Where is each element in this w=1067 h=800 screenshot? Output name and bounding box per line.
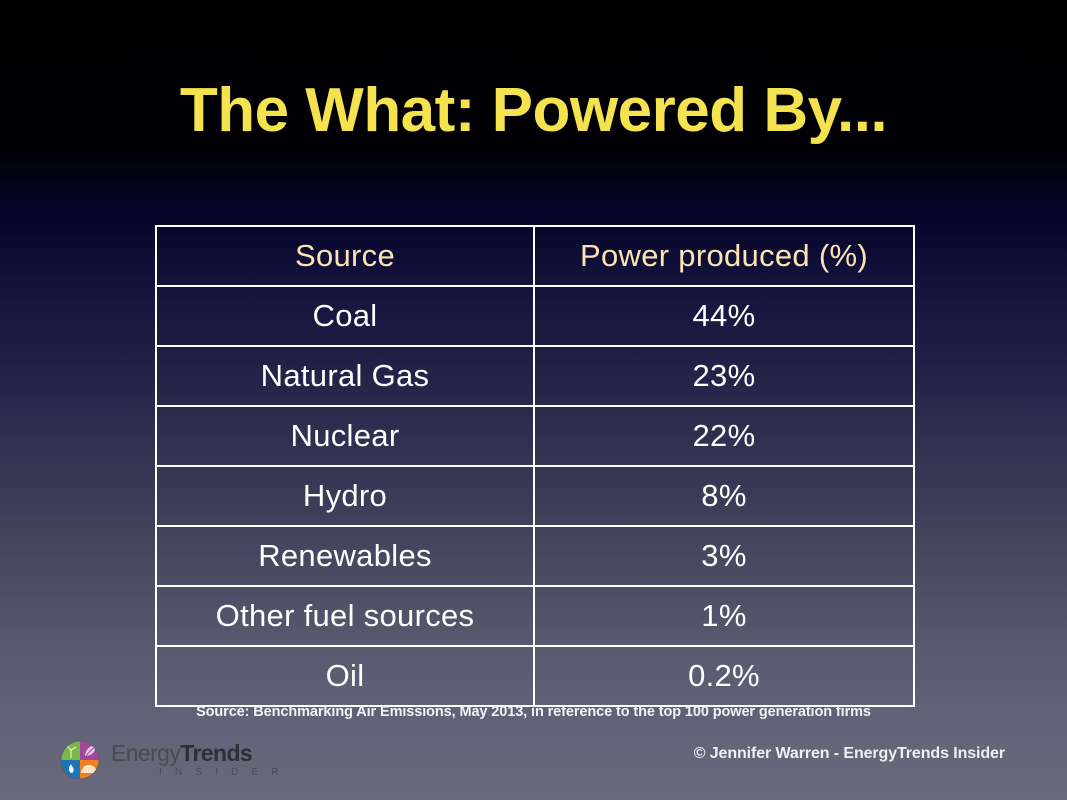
cell-power-renewables: 3%	[534, 526, 914, 586]
table-row: Renewables 3%	[156, 526, 914, 586]
column-header-source: Source	[156, 226, 534, 286]
table-header: Source Power produced (%)	[156, 226, 914, 286]
brand-logo-text: EnergyTrends I N S I D E R	[111, 742, 284, 778]
cell-power-oil: 0.2%	[534, 646, 914, 706]
table-row: Natural Gas 23%	[156, 346, 914, 406]
copyright-notice: © Jennifer Warren - EnergyTrends Insider	[694, 745, 1005, 763]
brand-logo-energy: Energy	[111, 740, 180, 766]
table-header-row: Source Power produced (%)	[156, 226, 914, 286]
table-row: Nuclear 22%	[156, 406, 914, 466]
source-note: Source: Benchmarking Air Emissions, May …	[0, 704, 1067, 720]
table-row: Hydro 8%	[156, 466, 914, 526]
brand-logo: EnergyTrends I N S I D E R	[58, 738, 284, 782]
cell-source-natural-gas: Natural Gas	[156, 346, 534, 406]
cell-power-nuclear: 22%	[534, 406, 914, 466]
table-row: Oil 0.2%	[156, 646, 914, 706]
energy-trends-circle-logo-icon	[58, 738, 102, 782]
cell-power-hydro: 8%	[534, 466, 914, 526]
cell-power-coal: 44%	[534, 286, 914, 346]
cell-source-renewables: Renewables	[156, 526, 534, 586]
cell-source-nuclear: Nuclear	[156, 406, 534, 466]
brand-logo-wordmark: EnergyTrends	[111, 742, 284, 765]
brand-logo-insider: I N S I D E R	[159, 768, 284, 778]
cell-power-natural-gas: 23%	[534, 346, 914, 406]
power-mix-table-container: Source Power produced (%) Coal 44% Natur…	[155, 225, 913, 690]
brand-logo-trends: Trends	[180, 740, 252, 766]
slide-canvas: The What: Powered By... Source Power pro…	[0, 0, 1067, 800]
power-mix-table: Source Power produced (%) Coal 44% Natur…	[155, 225, 915, 707]
table-body: Coal 44% Natural Gas 23% Nuclear 22% Hyd…	[156, 286, 914, 706]
cell-source-other-fuel-sources: Other fuel sources	[156, 586, 534, 646]
cell-source-oil: Oil	[156, 646, 534, 706]
page-title: The What: Powered By...	[0, 78, 1067, 143]
table-row: Other fuel sources 1%	[156, 586, 914, 646]
cell-source-coal: Coal	[156, 286, 534, 346]
cell-source-hydro: Hydro	[156, 466, 534, 526]
column-header-power-produced: Power produced (%)	[534, 226, 914, 286]
cell-power-other-fuel-sources: 1%	[534, 586, 914, 646]
table-row: Coal 44%	[156, 286, 914, 346]
